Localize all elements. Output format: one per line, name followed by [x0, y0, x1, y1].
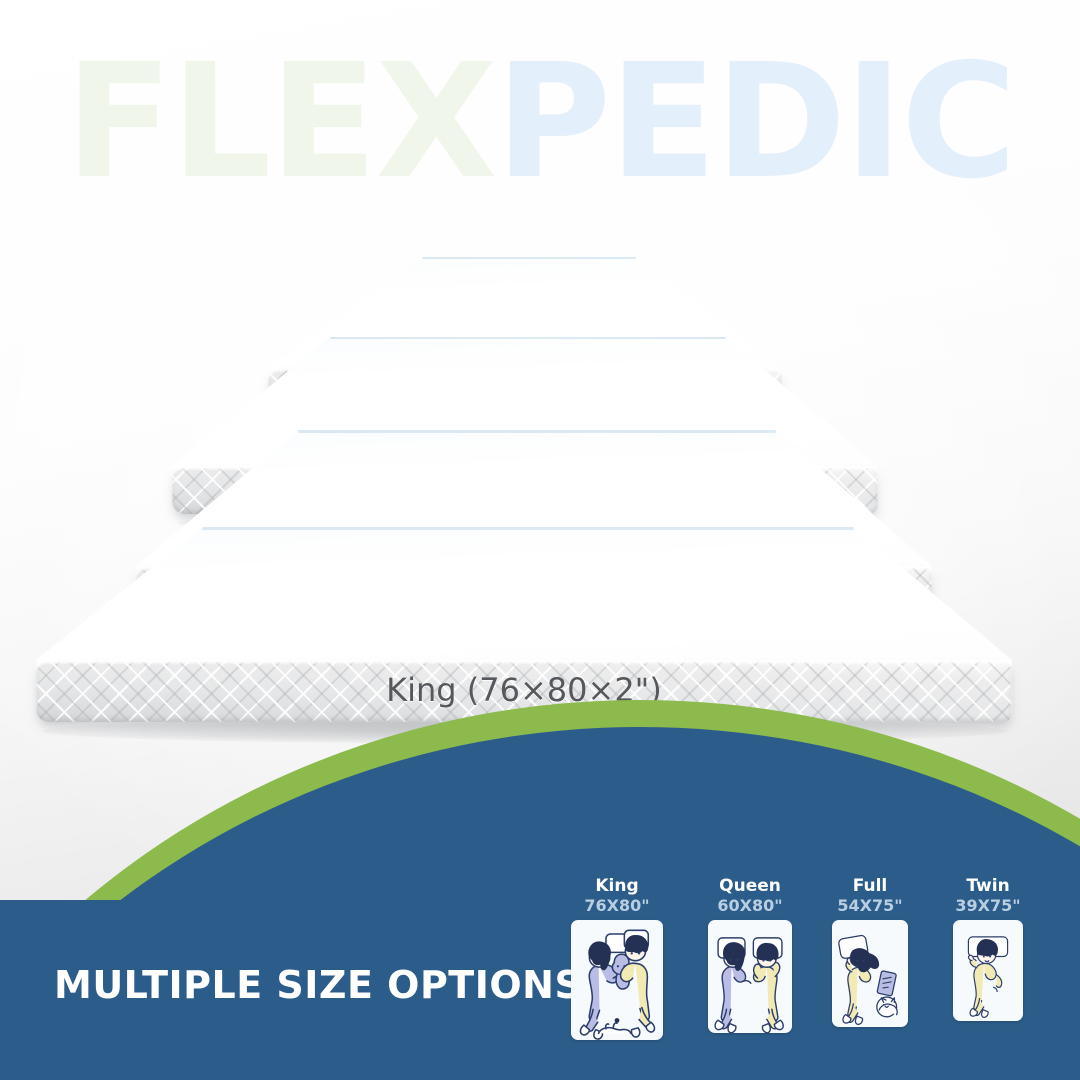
single-sleeper-icon [953, 920, 1023, 1021]
family-of-three-with-pet-icon [571, 920, 663, 1040]
mattress-size-label: King (76×80×2") [36, 671, 1012, 710]
banner-headline: MULTIPLE SIZE OPTIONS [54, 963, 582, 1007]
mattress-piping-back [298, 430, 776, 433]
size-card-dimensions: 54X75" [818, 896, 922, 915]
mattress-piping-back [202, 527, 854, 530]
product-infographic: FLEXPEDIC Twin(39×75×2")Full(54×75×2")Qu… [0, 0, 1080, 1080]
mattress-top-surface [36, 527, 1012, 674]
size-card-dimensions: 60X80" [694, 896, 806, 915]
size-card-name: Queen [694, 876, 806, 896]
mattress-piping-left [268, 143, 424, 257]
size-option-cards: King76X80" Queen60X80" [556, 876, 1060, 1056]
single-adult-with-phone-and-cat-icon [832, 920, 908, 1027]
size-card-name: Full [818, 876, 922, 896]
size-card-name: Twin [936, 876, 1040, 896]
size-option-card[interactable]: King76X80" [556, 876, 678, 1040]
mattress-piping-back [330, 337, 726, 339]
size-option-card[interactable]: Queen60X80" [694, 876, 806, 1033]
mattress-size-stack: Twin(39×75×2")Full(54×75×2")Queen(60×80×… [0, 0, 1080, 780]
size-card-name: King [556, 876, 678, 896]
size-card-dimensions: 39X75" [936, 896, 1040, 915]
mattress-layer: King (76×80×2") [36, 527, 1012, 738]
size-option-card[interactable]: Twin39X75" [936, 876, 1040, 1021]
size-card-dimensions: 76X80" [556, 896, 678, 915]
mattress-piping-back [422, 257, 636, 259]
size-option-card[interactable]: Full54X75" [818, 876, 922, 1027]
couple-icon [708, 920, 792, 1033]
